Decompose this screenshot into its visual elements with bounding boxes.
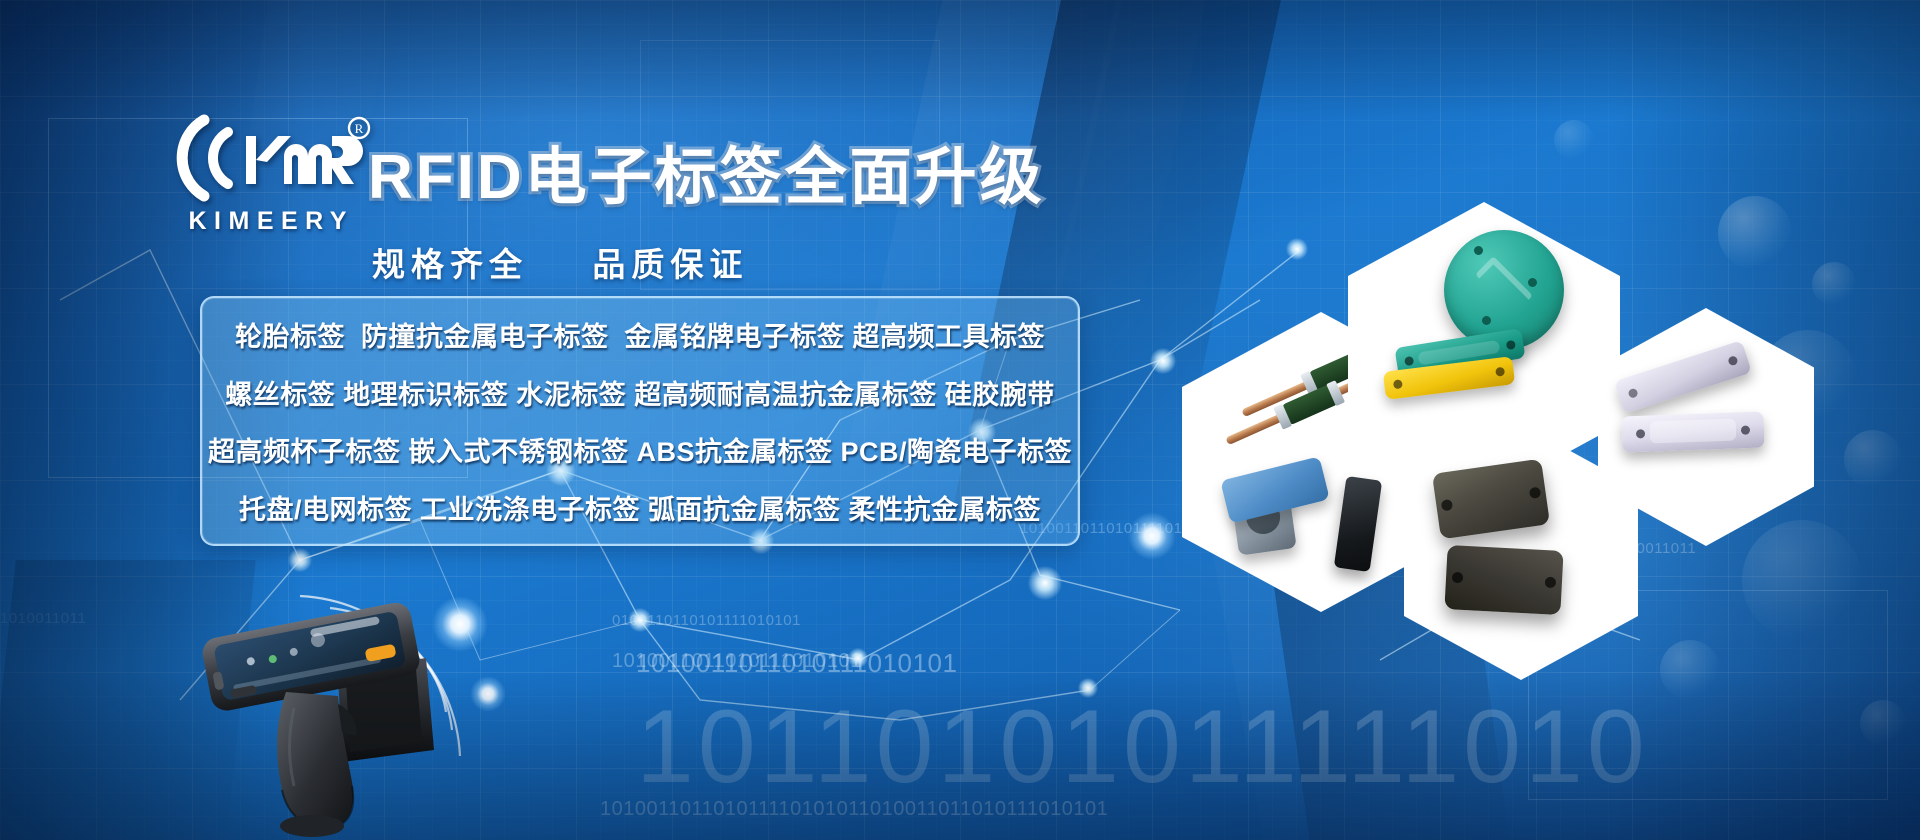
subtitle-left: 规格齐全 bbox=[372, 246, 528, 283]
handheld-rfid-reader-icon bbox=[190, 600, 490, 840]
kimeery-wave-kmr-logo-icon: R bbox=[160, 112, 375, 204]
page-title: RFID电子标签全面升级 bbox=[368, 126, 1045, 216]
dark-anti-metal-tag bbox=[1432, 459, 1550, 540]
subtitle: 规格齐全 品质保证 bbox=[372, 238, 748, 286]
handheld-rfid-reader[interactable] bbox=[190, 600, 490, 840]
product-category-panel: 轮胎标签 防撞抗金属电子标签 金属铭牌电子标签 超高频工具标签 螺丝标签 地理标… bbox=[200, 296, 1080, 546]
product-category-row: 托盘/电网标签 工业洗涤电子标签 弧面抗金属标签 柔性抗金属标签 bbox=[202, 488, 1078, 527]
dark-anti-metal-tag bbox=[1444, 545, 1563, 615]
rfid-promo-banner: 10110101011111010 1010011011010111010101… bbox=[0, 0, 1920, 840]
product-category-row: 超高频杯子标签 嵌入式不锈钢标签 ABS抗金属标签 PCB/陶瓷电子标签 bbox=[202, 430, 1078, 469]
subtitle-right: 品质保证 bbox=[592, 246, 748, 283]
registered-trademark-icon: R bbox=[349, 118, 369, 138]
svg-text:R: R bbox=[355, 121, 364, 136]
white-flexible-tag bbox=[1621, 412, 1764, 453]
brand-logo[interactable]: R KIMEERY bbox=[160, 112, 375, 242]
chevron-emboss-icon bbox=[1475, 256, 1533, 314]
brand-wordmark: KIMEERY bbox=[160, 207, 375, 236]
black-ceramic-bar-tag bbox=[1334, 476, 1382, 572]
white-flexible-tag bbox=[1614, 340, 1752, 414]
product-category-row: 轮胎标签 防撞抗金属电子标签 金属铭牌电子标签 超高频工具标签 bbox=[202, 315, 1078, 354]
product-category-row: 螺丝标签 地理标识标签 水泥标签 超高频耐高温抗金属标签 硅胶腕带 bbox=[202, 373, 1078, 412]
